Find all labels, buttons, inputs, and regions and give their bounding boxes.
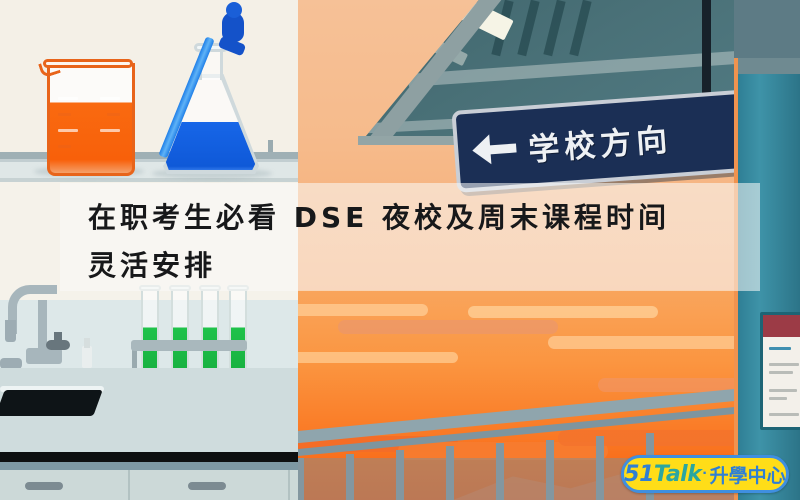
- logo-brand-word: Talk: [654, 462, 701, 487]
- platform-notice-board[interactable]: [760, 312, 800, 430]
- page-title: 在职考生必看 DSE 夜校及周末课程时间 灵活安排: [88, 194, 728, 290]
- notice-board-header: [763, 315, 800, 337]
- cloud: [468, 306, 658, 318]
- beaker-tick: [58, 129, 78, 132]
- logo-suffix: 升學中心: [710, 461, 786, 488]
- rack-upper-bar: [131, 340, 247, 351]
- dropper-bulb-top: [226, 2, 242, 18]
- railing-bar: [496, 443, 504, 500]
- railing-bar: [298, 458, 304, 500]
- railing-bar: [546, 440, 554, 500]
- beaker-tick: [100, 97, 120, 100]
- railing-bar: [596, 436, 604, 500]
- brand-logo-badge[interactable]: 51Talk·升學中心: [621, 455, 789, 493]
- ceiling-slat: [517, 0, 539, 56]
- cabinet-handle: [25, 482, 63, 490]
- shelf-edge: [0, 178, 298, 182]
- notice-text-line: [769, 371, 793, 374]
- cloud: [298, 304, 428, 316]
- notice-text-line: [769, 397, 787, 400]
- poster-canvas: 学校方向 在职考生必看 DSE 夜校及周末课程时间 灵活安排 51Talk·升學…: [0, 0, 800, 500]
- column-band: [738, 58, 800, 74]
- soap-bottle: [82, 346, 92, 368]
- direction-sign-inner: 学校方向: [456, 93, 753, 188]
- beaker-body: [47, 63, 135, 176]
- logo-separator: ·: [702, 465, 707, 483]
- lab-sink: [0, 390, 103, 416]
- cabinet-divider: [128, 470, 130, 500]
- counter-lip: [0, 462, 298, 470]
- faucet-spout: [5, 320, 16, 342]
- headline-line-2: 灵活安排: [88, 242, 728, 290]
- cloud: [298, 352, 458, 363]
- notice-text-line: [769, 363, 799, 366]
- soap-bottle-cap: [84, 338, 90, 348]
- notice-text-line: [769, 413, 799, 416]
- beaker-tick: [58, 113, 71, 116]
- cabinet-divider: [288, 470, 290, 500]
- railing-bar: [346, 454, 354, 500]
- counter-edge-dark: [0, 452, 298, 462]
- beaker-tick: [100, 129, 120, 132]
- cabinet-handle: [188, 482, 226, 490]
- beaker: [43, 55, 133, 173]
- beaker-tick: [107, 113, 120, 116]
- beaker-tick: [58, 145, 71, 148]
- notice-text-line: [769, 347, 791, 350]
- direction-sign-text: 学校方向: [527, 114, 674, 169]
- beaker-tick: [58, 97, 78, 100]
- ceiling-slat: [543, 0, 565, 56]
- cloud: [338, 320, 558, 334]
- notice-text-line: [769, 389, 797, 392]
- railing-bar: [446, 446, 454, 500]
- ceiling-slat: [569, 0, 591, 56]
- faucet-base: [26, 348, 62, 364]
- headline-line-1: 在职考生必看 DSE 夜校及周末课程时间: [88, 194, 728, 242]
- logo-brand-number: 51: [624, 462, 654, 487]
- faucet-valve-knob: [46, 340, 70, 350]
- dropper-pipette: [186, 16, 258, 166]
- left-arrow-icon: [471, 130, 517, 167]
- railing-bar: [396, 450, 404, 500]
- column-capital: [734, 0, 800, 58]
